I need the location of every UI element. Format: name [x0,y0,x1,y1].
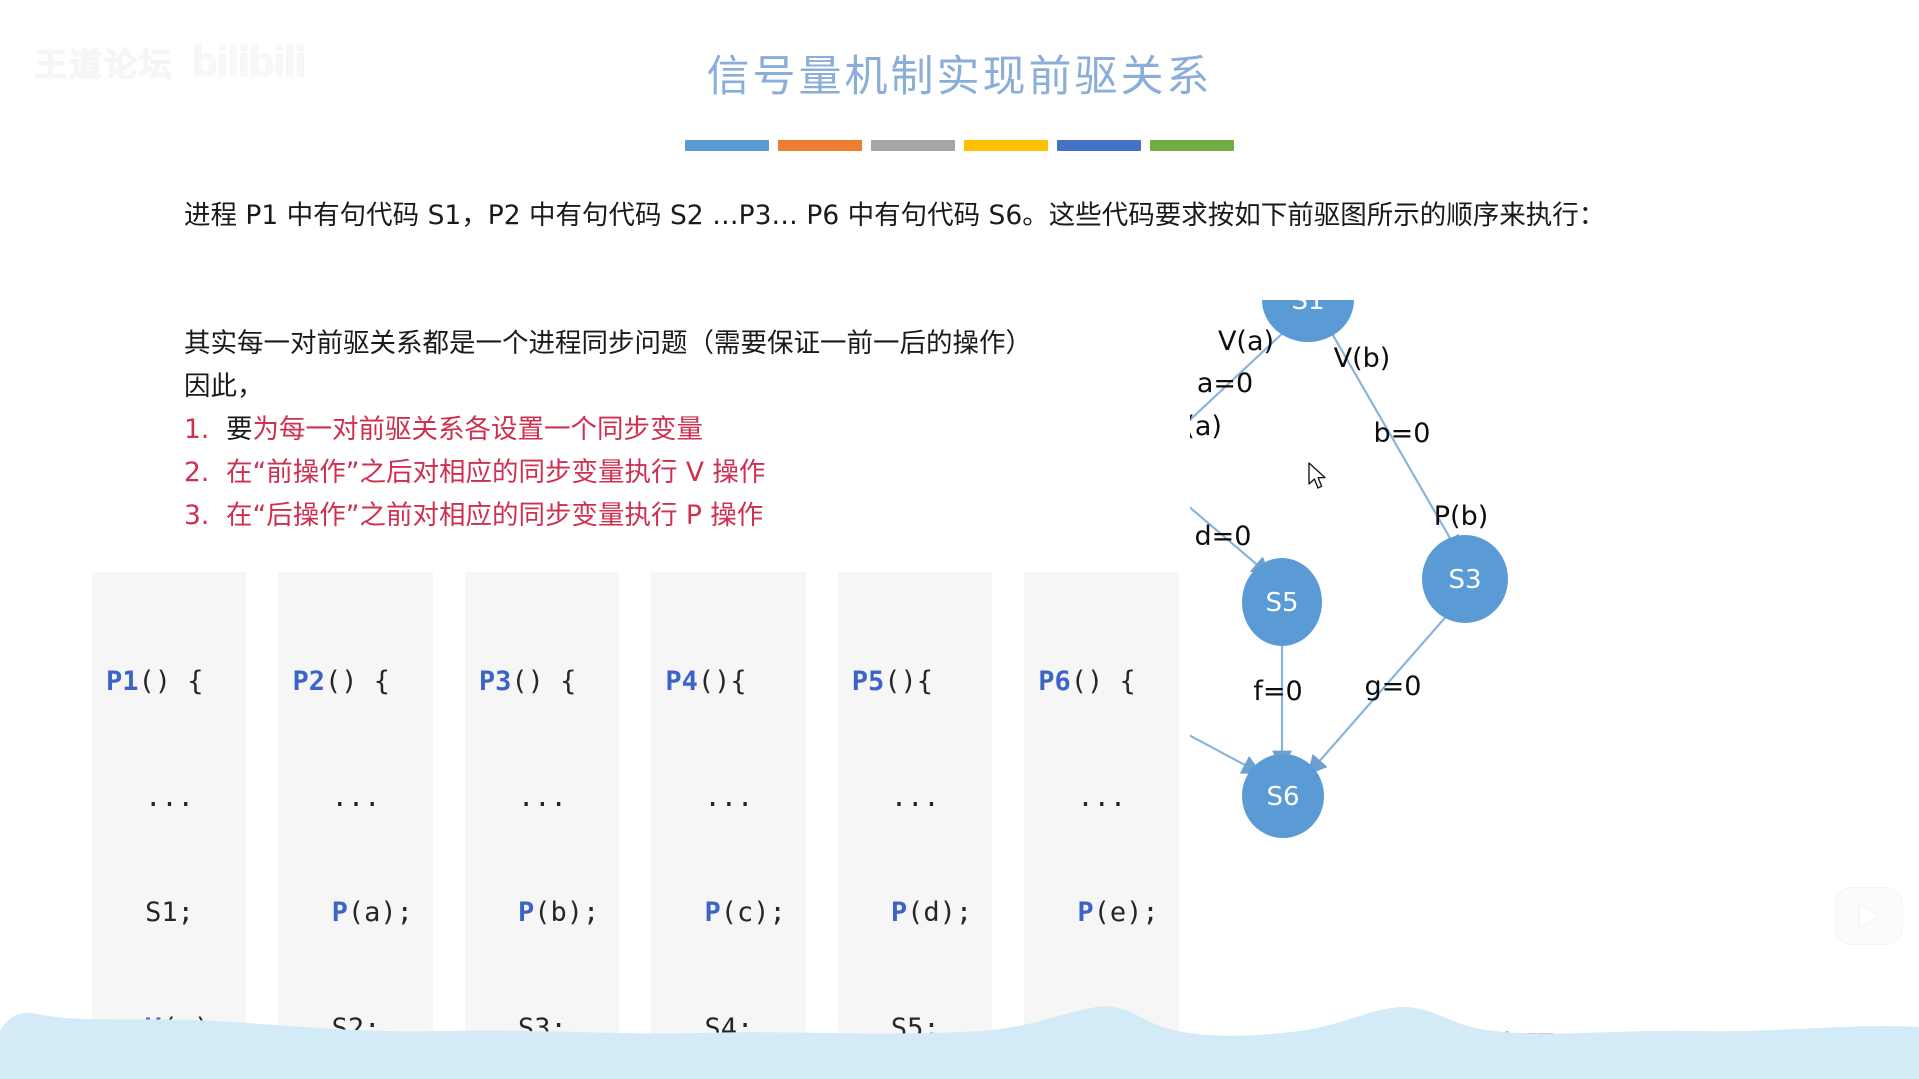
edge-label-f0: f=0 [1253,676,1302,707]
intro-paragraph: 进程 P1 中有句代码 S1，P2 中有句代码 S2 …P3… P6 中有句代码… [184,192,1744,239]
edge-label-d0: d=0 [1195,521,1252,552]
mouse-cursor [1308,462,1330,497]
rule-number-2: 2. [184,451,226,494]
graph-node-s1[interactable]: S1 [1262,300,1354,342]
precedence-graph: V(a) a=0 P(a) V(b) b=0 P(b) c=0 d=0 e=0 … [1190,300,1910,940]
play-button-badge[interactable] [1836,888,1902,944]
title-accent-bars [0,140,1919,151]
edge-label-a0: a=0 [1197,368,1253,399]
edge-label-va: V(a) [1218,326,1274,357]
bottom-wave-decoration [0,993,1919,1079]
edge-label-g0: g=0 [1365,671,1422,702]
graph-node-s1-label: S1 [1291,300,1324,316]
edge-label-pb: P(b) [1434,501,1489,532]
graph-node-s3-label: S3 [1448,565,1481,595]
slide-canvas: 王道论坛 bilibili 信号量机制实现前驱关系 进程 P1 中有句代码 S1… [0,0,1919,1079]
rule-item-1: 1. 要为每一对前驱关系各设置一个同步变量 [184,408,1284,451]
rule-number-3: 3. [184,494,226,537]
rule-item-3: 3. 在“后操作”之前对相应的同步变量执行 P 操作 [184,494,1284,537]
accent-bar-1 [685,140,769,151]
rule-item-2: 2. 在“前操作”之后对相应的同步变量执行 V 操作 [184,451,1284,494]
graph-node-s6[interactable]: S6 [1242,754,1324,838]
graph-node-s5-label: S5 [1265,588,1298,618]
rule-number-1: 1. [184,408,226,451]
graph-node-s3[interactable]: S3 [1422,535,1508,623]
rule-text-2: 在“前操作”之后对相应的同步变量执行 V 操作 [226,451,765,494]
page-title-text: 信号量机制实现前驱关系 [707,42,1213,104]
rules-list: 1. 要为每一对前驱关系各设置一个同步变量 2. 在“前操作”之后对相应的同步变… [184,408,1284,537]
edge-label-pa: P(a) [1190,411,1222,442]
accent-bar-5 [1057,140,1141,151]
rule-lead-1: 要 [226,414,253,445]
accent-bar-3 [871,140,955,151]
edge-label-b0: b=0 [1374,418,1431,449]
rule-text-1: 为每一对前驱关系各设置一个同步变量 [253,414,704,445]
accent-bar-2 [778,140,862,151]
page-title: 信号量机制实现前驱关系 [0,42,1919,104]
graph-node-s5[interactable]: S5 [1242,558,1322,646]
edge-s4-s6 [1190,666,1258,772]
accent-bar-6 [1150,140,1234,151]
accent-bar-4 [964,140,1048,151]
rule-text-3: 在“后操作”之前对相应的同步变量执行 P 操作 [226,494,763,537]
wave-shape [0,1006,1919,1079]
edge-label-vb: V(b) [1334,343,1391,374]
play-icon [1860,905,1878,927]
graph-node-s6-label: S6 [1266,782,1299,812]
graph-edge-labels: V(a) a=0 P(a) V(b) b=0 P(b) c=0 d=0 e=0 … [1190,326,1488,727]
